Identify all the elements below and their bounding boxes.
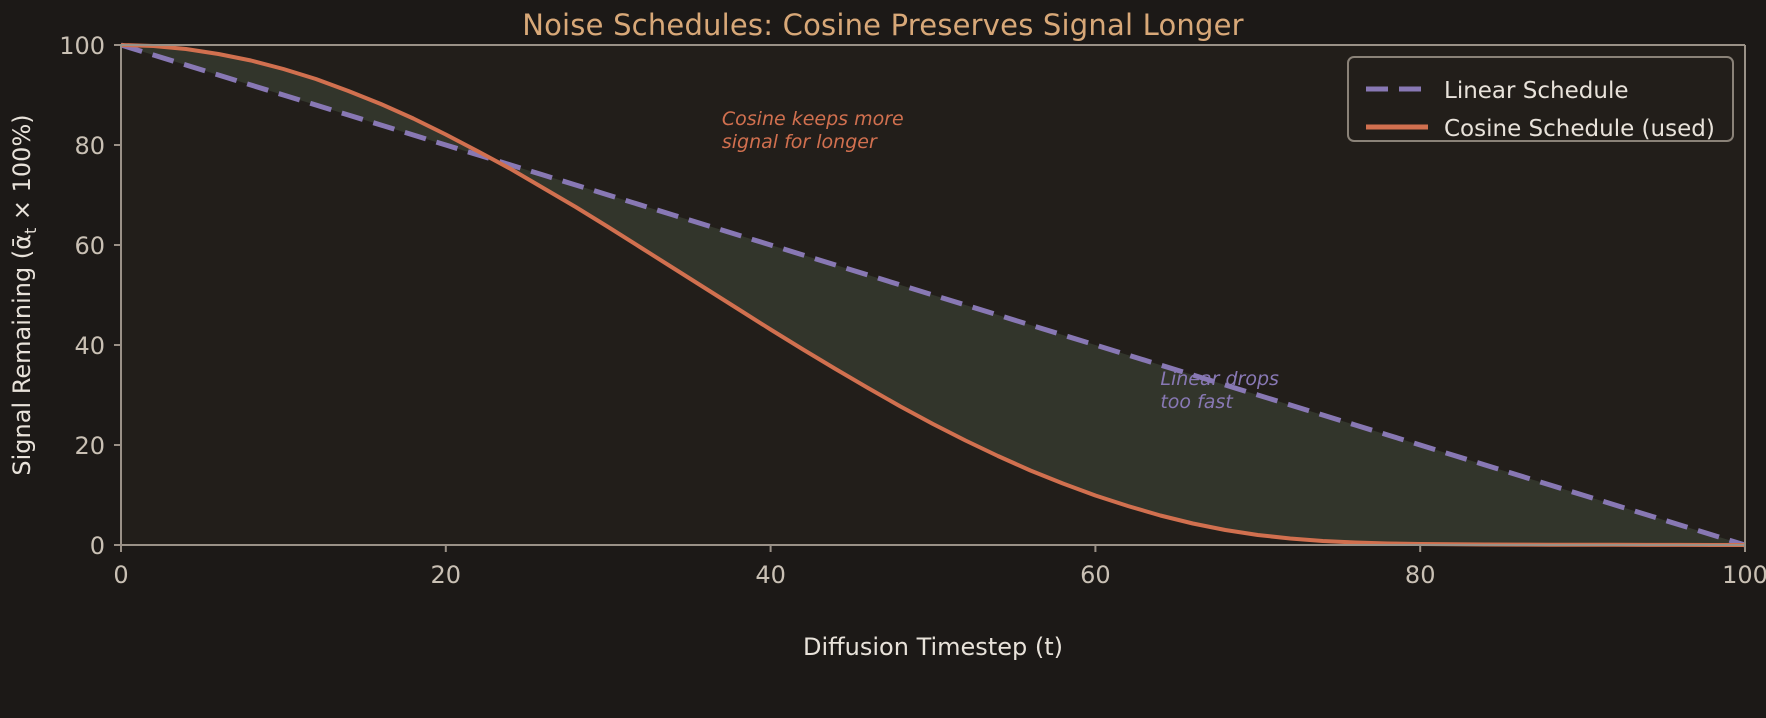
y-tick-label: 60 [74, 232, 105, 260]
x-tick-label: 60 [1080, 561, 1111, 589]
chart-figure: Noise Schedules: Cosine Preserves Signal… [0, 0, 1766, 718]
y-tick-label: 20 [74, 432, 105, 460]
chart-annotation: Linear drops [1160, 368, 1279, 390]
legend-label[interactable]: Cosine Schedule (used) [1444, 116, 1715, 142]
y-tick-label: 0 [90, 532, 105, 560]
chart-canvas: 020406080100020406080100 Cosine keeps mo… [0, 0, 1766, 718]
chart-annotation: too fast [1160, 391, 1234, 413]
y-tick-label: 100 [59, 32, 105, 60]
x-tick-label: 40 [755, 561, 786, 589]
legend[interactable]: Linear ScheduleCosine Schedule (used) [1348, 57, 1733, 142]
x-tick-label: 0 [113, 561, 128, 589]
chart-annotation: signal for longer [722, 131, 878, 153]
x-tick-label: 20 [431, 561, 462, 589]
y-tick-label: 40 [74, 332, 105, 360]
x-tick-label: 80 [1405, 561, 1436, 589]
y-axis-title: Signal Remaining (ᾱt × 100%) [8, 114, 40, 475]
chart-annotation: Cosine keeps more [722, 108, 904, 130]
y-tick-label: 80 [74, 132, 105, 160]
x-axis-title: Diffusion Timestep (t) [803, 633, 1063, 661]
legend-label[interactable]: Linear Schedule [1444, 78, 1628, 104]
x-tick-label: 100 [1722, 561, 1766, 589]
